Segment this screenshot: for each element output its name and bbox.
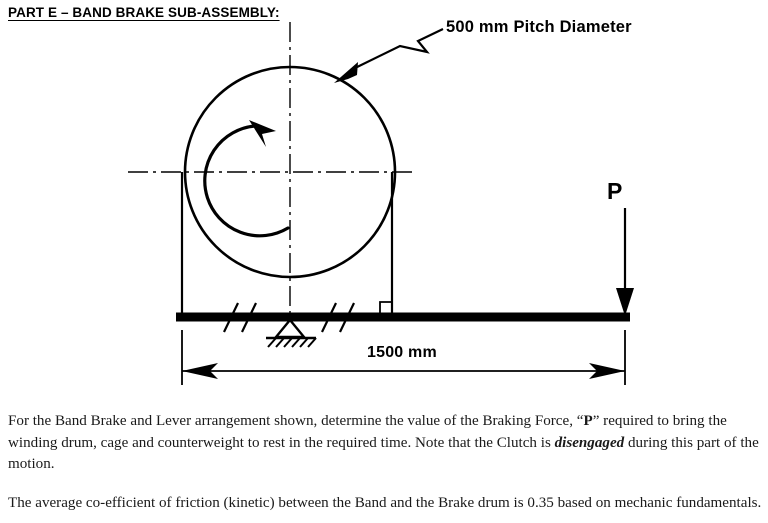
paragraph-1-part-a: For the Band Brake and Lever arrangement… — [8, 413, 583, 429]
right-angle-marker — [380, 302, 391, 313]
rotation-arc — [205, 126, 288, 236]
pitch-diameter-leader — [334, 29, 443, 83]
braking-force-label: P — [607, 178, 622, 205]
centre-lines — [128, 22, 416, 316]
leader-arrowhead — [334, 62, 358, 83]
lever-beam — [176, 313, 630, 322]
rotation-direction-arrow — [205, 120, 288, 236]
rotation-arrowhead — [249, 120, 276, 147]
paragraph-1-disengaged-emphasis: disengaged — [555, 435, 625, 451]
span-dimension-label: 1500 mm — [367, 344, 437, 362]
problem-statement-paragraph: For the Band Brake and Lever arrangement… — [8, 411, 762, 476]
leader-path — [351, 29, 443, 70]
pitch-diameter-label: 500 mm Pitch Diameter — [446, 18, 632, 37]
support-triangle — [276, 320, 304, 337]
paragraph-2-text: The average co-efficient of friction (ki… — [8, 495, 761, 511]
ground-hatching — [268, 338, 316, 347]
friction-coefficient-paragraph: The average co-efficient of friction (ki… — [8, 493, 762, 515]
braking-force-arrow — [616, 208, 634, 316]
paragraph-1-force-symbol: P — [583, 413, 592, 429]
pin-support — [266, 320, 316, 347]
band-brake-diagram — [0, 0, 768, 395]
page-root: PART E – BAND BRAKE SUB-ASSEMBLY: — [0, 0, 768, 523]
force-arrowhead — [616, 288, 634, 316]
